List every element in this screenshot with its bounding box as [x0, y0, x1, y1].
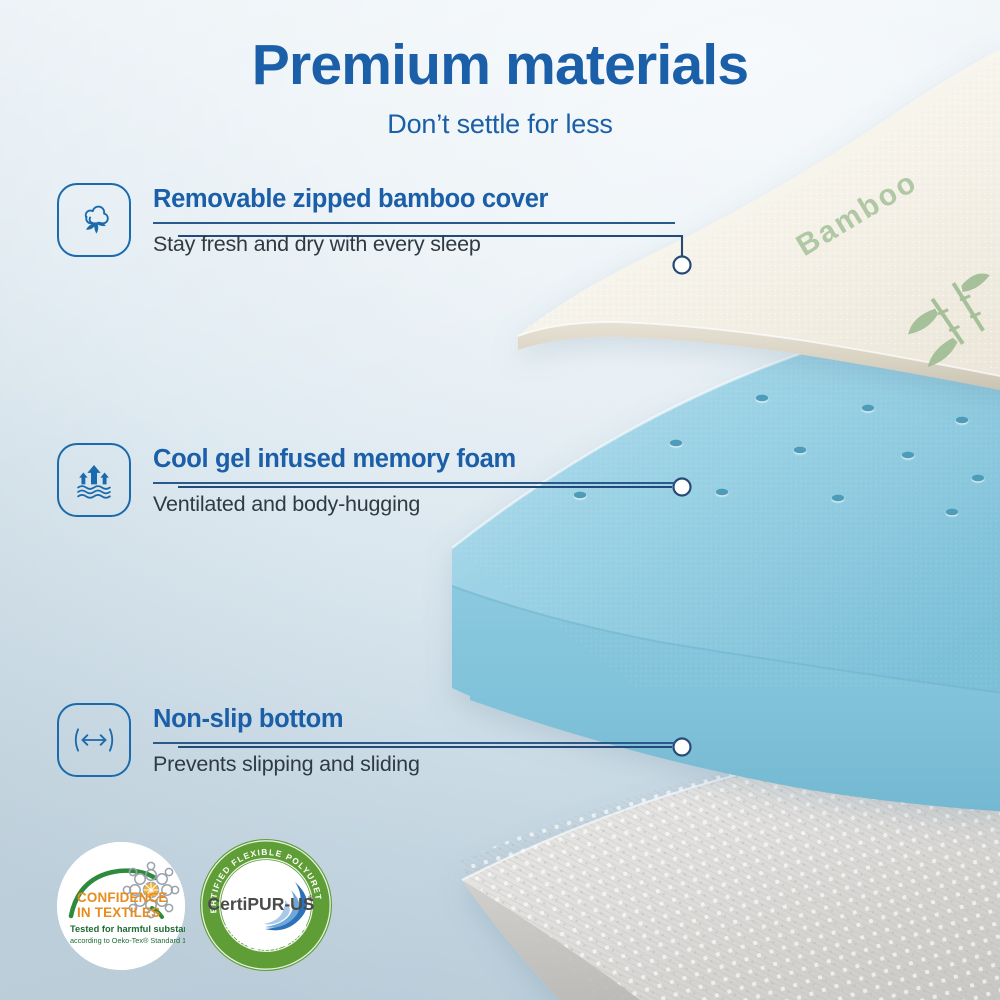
callout-dot-2	[674, 479, 691, 496]
page-title: Premium materials	[0, 36, 1000, 96]
feature-title: Non-slip bottom	[153, 705, 675, 733]
oeko-tex-badge: CONFIDENCE IN TEXTILES Tested for harmfu…	[57, 842, 185, 970]
certipur-us-badge: CONTAINS CERTIFIED FLEXIBLE POLYURETHANE…	[199, 838, 333, 972]
feature-divider	[153, 482, 675, 484]
feature-divider	[153, 742, 675, 744]
feature-item-gel-memory-foam: Cool gel infused memory foam Ventilated …	[57, 443, 675, 517]
feature-subtitle: Prevents slipping and sliding	[153, 752, 675, 777]
feature-divider	[153, 222, 675, 224]
feature-text-block: Cool gel infused memory foam Ventilated …	[153, 443, 675, 516]
callout-dot-1	[674, 257, 691, 274]
airflow-waves-icon	[57, 443, 131, 517]
feature-text-block: Non-slip bottom Prevents slipping and sl…	[153, 703, 675, 776]
feature-subtitle: Stay fresh and dry with every sleep	[153, 232, 675, 257]
oeko-line-4: according to Oeko-Tex® Standard 100	[70, 936, 185, 945]
feature-title: Cool gel infused memory foam	[153, 445, 675, 473]
infographic-page: Bamboo Pre	[0, 0, 1000, 1000]
horizontal-arrow-grip-icon	[57, 703, 131, 777]
feature-text-block: Removable zipped bamboo cover Stay fresh…	[153, 183, 675, 256]
feature-item-bamboo-cover: Removable zipped bamboo cover Stay fresh…	[57, 183, 675, 257]
oeko-line-1: CONFIDENCE	[77, 890, 168, 905]
feature-subtitle: Ventilated and body-hugging	[153, 492, 675, 517]
oeko-line-2: IN TEXTILES	[77, 905, 160, 920]
page-subtitle: Don’t settle for less	[0, 109, 1000, 140]
oeko-line-3: Tested for harmful substances	[70, 924, 185, 934]
header: Premium materials Don’t settle for less	[0, 36, 1000, 140]
cotton-boll-icon	[57, 183, 131, 257]
certipur-registered-mark: ®	[308, 895, 314, 903]
callout-dot-3	[674, 739, 691, 756]
feature-title: Removable zipped bamboo cover	[153, 185, 675, 213]
feature-item-non-slip-bottom: Non-slip bottom Prevents slipping and sl…	[57, 703, 675, 777]
certipur-center-label: CertiPUR-US	[208, 894, 315, 914]
